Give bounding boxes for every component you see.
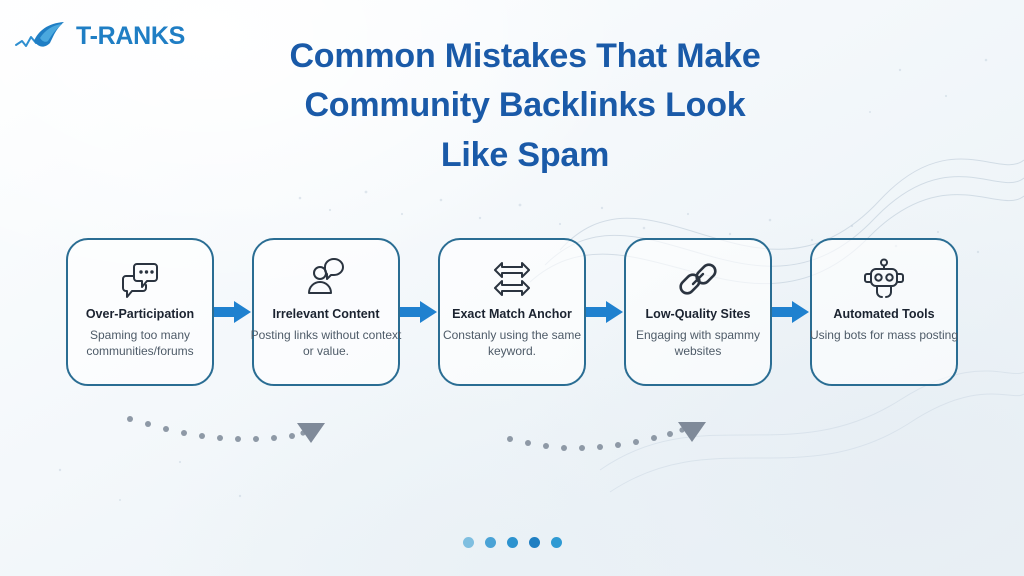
step-title: Over-Participation	[86, 308, 194, 322]
pager-dots[interactable]	[0, 537, 1024, 548]
pager-dot[interactable]	[485, 537, 496, 548]
pager-dot[interactable]	[463, 537, 474, 548]
mistakes-flow: Over-Participation Spaming too many comm…	[66, 238, 966, 386]
person-speech-bubble-icon	[303, 256, 349, 302]
step-card-over-participation[interactable]: Over-Participation Spaming too many comm…	[66, 238, 214, 386]
arrow-right-icon	[400, 299, 438, 325]
triangle-down-icon	[297, 423, 325, 443]
title-line-2: Community Backlinks Look	[190, 81, 860, 130]
flow-connector-4	[772, 298, 810, 326]
arrow-right-icon	[586, 299, 624, 325]
chat-bubbles-icon	[117, 256, 163, 302]
pager-dot[interactable]	[551, 537, 562, 548]
dotted-curve-decoration	[0, 395, 1024, 485]
step-title: Irrelevant Content	[273, 308, 380, 322]
step-description: Constanly using the same keyword.	[436, 327, 588, 360]
brand-logo[interactable]: T-RANKS	[14, 16, 185, 56]
flow-connector-1	[214, 298, 252, 326]
step-description: Posting links without context or value.	[250, 327, 402, 360]
page-title: Common Mistakes That Make Community Back…	[190, 32, 860, 180]
step-title: Low-Quality Sites	[646, 308, 751, 322]
arrow-right-icon	[214, 299, 252, 325]
step-description: Spaming too many communities/forums	[64, 327, 216, 360]
step-card-exact-match-anchor[interactable]: Exact Match Anchor Constanly using the s…	[438, 238, 586, 386]
brand-name: T-RANKS	[76, 22, 185, 51]
double-arrows-icon	[489, 256, 535, 302]
robot-icon	[861, 256, 907, 302]
triangle-down-icon	[678, 422, 706, 442]
step-title: Automated Tools	[833, 308, 934, 322]
arrow-chart-logo-icon	[14, 19, 72, 53]
chain-link-icon	[675, 256, 721, 302]
title-line-1: Common Mistakes That Make	[190, 32, 860, 81]
infographic-canvas: T-RANKS Common Mistakes That Make Commun…	[0, 0, 1024, 576]
pager-dot[interactable]	[507, 537, 518, 548]
pager-dot[interactable]	[529, 537, 540, 548]
title-line-3: Like Spam	[190, 131, 860, 180]
step-card-automated-tools[interactable]: Automated Tools Using bots for mass post…	[810, 238, 958, 386]
step-card-irrelevant-content[interactable]: Irrelevant Content Posting links without…	[252, 238, 400, 386]
arrow-right-icon	[772, 299, 810, 325]
step-title: Exact Match Anchor	[452, 308, 572, 322]
step-card-low-quality-sites[interactable]: Low-Quality Sites Engaging with spammy w…	[624, 238, 772, 386]
flow-connector-2	[400, 298, 438, 326]
step-description: Engaging with spammy websites	[622, 327, 774, 360]
flow-connector-3	[586, 298, 624, 326]
step-description: Using bots for mass posting	[808, 327, 960, 344]
